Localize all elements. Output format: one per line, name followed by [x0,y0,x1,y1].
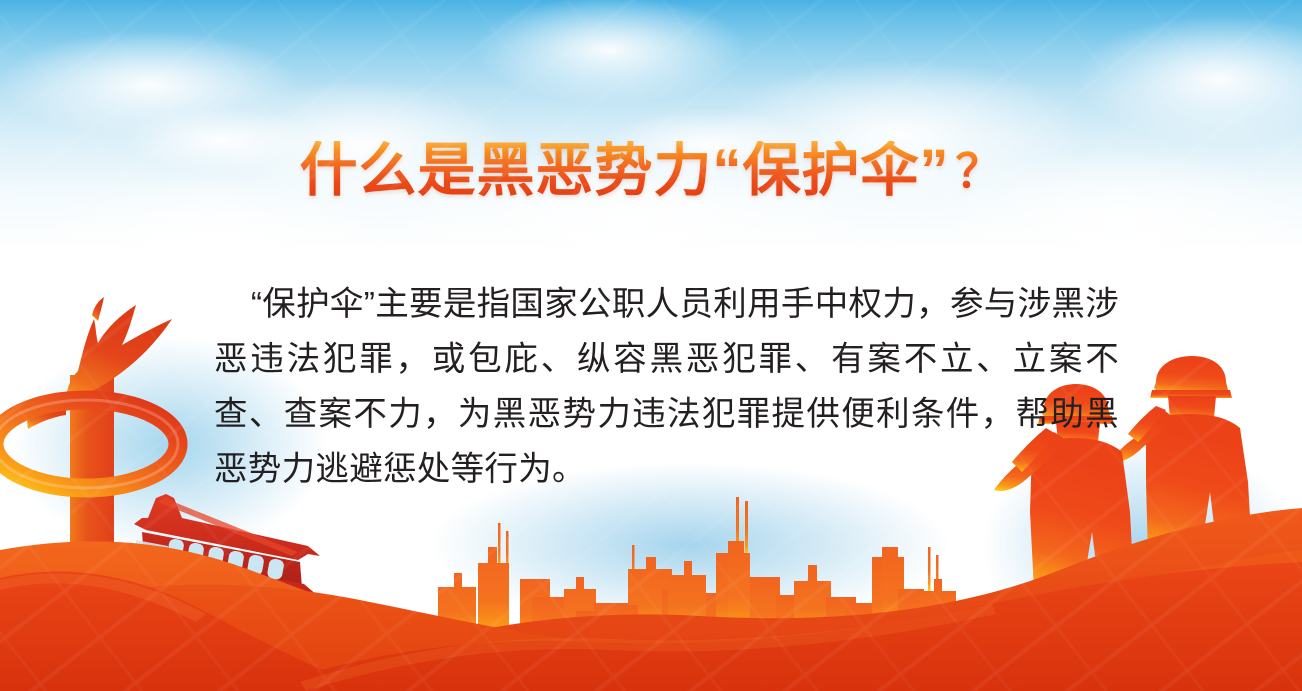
body-text-block: “保护伞”主要是指国家公职人员利用手中权力，参与涉黑涉恶违法犯罪，或包庇、纵容黑… [214,243,1119,530]
page-title: 什么是黑恶势力“保护伞”？ [299,141,1002,202]
body-paragraph: “保护伞”主要是指国家公职人员利用手中权力，参与涉黑涉恶违法犯罪，或包庇、纵容黑… [214,277,1119,497]
page-title-main: 什么是黑恶势力“保护伞” [299,138,949,203]
poster-canvas: 什么是黑恶势力“保护伞”？ “保护伞”主要是指国家公职人员利用手中权力，参与涉黑… [0,0,1302,691]
page-title-question-mark: ？ [956,145,1003,197]
title-block: 什么是黑恶势力“保护伞”？ [0,141,1302,202]
